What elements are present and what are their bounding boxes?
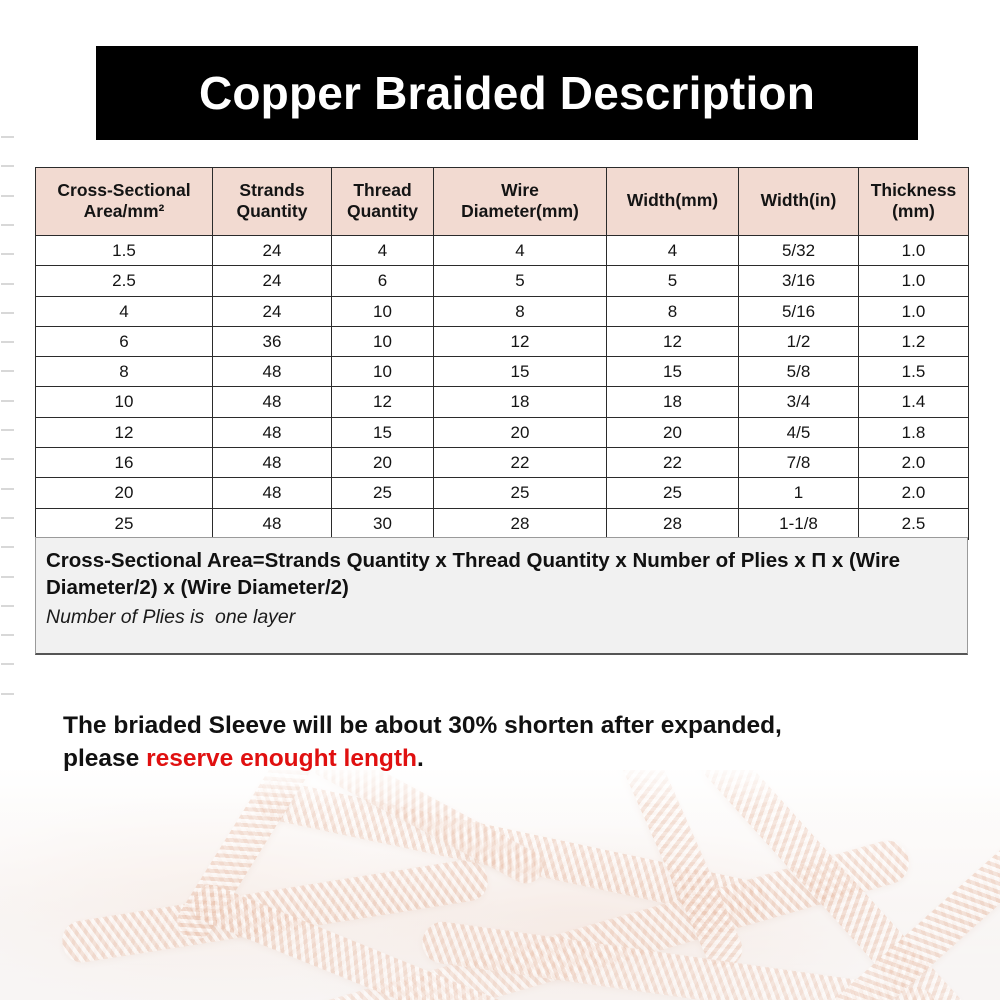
- table-cell: 48: [213, 478, 332, 508]
- table-cell: 48: [213, 387, 332, 417]
- table-cell: 10: [332, 326, 434, 356]
- table-cell: 2.5: [36, 266, 213, 296]
- table-cell: 10: [332, 296, 434, 326]
- gutter-tick: [1, 634, 14, 636]
- product-photo: [0, 770, 1000, 1000]
- table-cell: 5/8: [739, 357, 859, 387]
- table-cell: 36: [213, 326, 332, 356]
- column-header: Width(in): [739, 168, 859, 236]
- table-cell: 15: [434, 357, 607, 387]
- column-header: Width(mm): [607, 168, 739, 236]
- column-header: Thickness(mm): [859, 168, 969, 236]
- column-header: WireDiameter(mm): [434, 168, 607, 236]
- gutter-tick: [1, 136, 14, 138]
- table-cell: 24: [213, 236, 332, 266]
- gutter-tick: [1, 546, 14, 548]
- title-banner: Copper Braided Description: [96, 46, 918, 140]
- gutter-tick: [1, 429, 14, 431]
- table-cell: 1.4: [859, 387, 969, 417]
- table-cell: 18: [434, 387, 607, 417]
- table-row: 10481218183/41.4: [36, 387, 969, 417]
- table-cell: 28: [607, 508, 739, 539]
- table-cell: 8: [607, 296, 739, 326]
- gutter-tick: [1, 488, 14, 490]
- gutter-tick: [1, 370, 14, 372]
- column-header-line: Width(in): [742, 190, 855, 211]
- product-description-page: Copper Braided Description Cross-Section…: [0, 0, 1000, 1000]
- table-cell: 12: [434, 326, 607, 356]
- table-cell: 2.5: [859, 508, 969, 539]
- table-cell: 15: [332, 417, 434, 447]
- table-cell: 2.0: [859, 448, 969, 478]
- table-cell: 10: [332, 357, 434, 387]
- table-cell: 7/8: [739, 448, 859, 478]
- table-row: 42410885/161.0: [36, 296, 969, 326]
- table-cell: 8: [434, 296, 607, 326]
- column-header-line: Wire: [437, 180, 603, 201]
- table-cell: 3/16: [739, 266, 859, 296]
- table-cell: 2.0: [859, 478, 969, 508]
- table-cell: 1/2: [739, 326, 859, 356]
- table-cell: 25: [607, 478, 739, 508]
- table-cell: 10: [36, 387, 213, 417]
- table-row: 204825252512.0: [36, 478, 969, 508]
- table-cell: 12: [332, 387, 434, 417]
- table-cell: 25: [434, 478, 607, 508]
- table-cell: 18: [607, 387, 739, 417]
- table-cell: 20: [607, 417, 739, 447]
- table-cell: 1.0: [859, 266, 969, 296]
- column-header-line: (mm): [862, 201, 965, 222]
- warning-line-2-suffix: .: [417, 745, 424, 772]
- table-cell: 1.5: [859, 357, 969, 387]
- gutter-tick: [1, 517, 14, 519]
- table-cell: 3/4: [739, 387, 859, 417]
- table-cell: 6: [36, 326, 213, 356]
- table-cell: 5: [434, 266, 607, 296]
- gutter-tick: [1, 165, 14, 167]
- table-cell: 48: [213, 357, 332, 387]
- column-header-line: Area/mm²: [39, 201, 209, 222]
- warning-line-1: The briaded Sleeve will be about 30% sho…: [63, 712, 782, 739]
- table-cell: 1.5: [36, 236, 213, 266]
- table-row: 25483028281-1/82.5: [36, 508, 969, 539]
- column-header-line: Cross-Sectional: [39, 180, 209, 201]
- table-cell: 5/16: [739, 296, 859, 326]
- column-header-line: Thickness: [862, 180, 965, 201]
- gutter-tick: [1, 283, 14, 285]
- gutter-tick: [1, 253, 14, 255]
- table-body: 1.5244445/321.02.5246553/161.042410885/1…: [36, 236, 969, 539]
- table-cell: 24: [213, 296, 332, 326]
- table-cell: 1.8: [859, 417, 969, 447]
- table-row: 16482022227/82.0: [36, 448, 969, 478]
- gutter-tick: [1, 312, 14, 314]
- table-cell: 12: [36, 417, 213, 447]
- table-cell: 20: [36, 478, 213, 508]
- formula-equation: Cross-Sectional Area=Strands Quantity x …: [46, 547, 957, 602]
- plies-note: Number of Plies is one layer: [46, 605, 957, 630]
- table-cell: 20: [434, 417, 607, 447]
- table-header-row: Cross-SectionalArea/mm²StrandsQuantityTh…: [36, 168, 969, 236]
- warning-line-2-prefix: please: [63, 745, 146, 772]
- gutter-tick: [1, 605, 14, 607]
- table-cell: 1.2: [859, 326, 969, 356]
- table-cell: 48: [213, 448, 332, 478]
- gutter-tick: [1, 400, 14, 402]
- table-cell: 4: [607, 236, 739, 266]
- table-row: 2.5246553/161.0: [36, 266, 969, 296]
- table-cell: 28: [434, 508, 607, 539]
- table-cell: 4: [332, 236, 434, 266]
- table-cell: 48: [213, 508, 332, 539]
- table-cell: 8: [36, 357, 213, 387]
- table-cell: 1: [739, 478, 859, 508]
- column-header-line: Width(mm): [610, 190, 735, 211]
- table-cell: 25: [332, 478, 434, 508]
- gutter-tick: [1, 576, 14, 578]
- table-cell: 5: [607, 266, 739, 296]
- table-cell: 22: [434, 448, 607, 478]
- column-header-line: Quantity: [335, 201, 430, 222]
- table-cell: 4: [36, 296, 213, 326]
- shrinkage-warning: The briaded Sleeve will be about 30% sho…: [63, 710, 963, 776]
- table-cell: 1-1/8: [739, 508, 859, 539]
- table-cell: 6: [332, 266, 434, 296]
- table-cell: 12: [607, 326, 739, 356]
- column-header-line: Quantity: [216, 201, 328, 222]
- table-cell: 1.0: [859, 236, 969, 266]
- column-header-line: Strands: [216, 180, 328, 201]
- gutter-tick: [1, 224, 14, 226]
- spec-table-container: Cross-SectionalArea/mm²StrandsQuantityTh…: [35, 167, 968, 540]
- table-cell: 4: [434, 236, 607, 266]
- table-cell: 16: [36, 448, 213, 478]
- specification-table: Cross-SectionalArea/mm²StrandsQuantityTh…: [35, 167, 969, 540]
- gutter-tick: [1, 458, 14, 460]
- column-header: ThreadQuantity: [332, 168, 434, 236]
- table-header: Cross-SectionalArea/mm²StrandsQuantityTh…: [36, 168, 969, 236]
- formula-box: Cross-Sectional Area=Strands Quantity x …: [35, 537, 968, 655]
- table-row: 12481520204/51.8: [36, 417, 969, 447]
- column-header-line: Thread: [335, 180, 430, 201]
- row-gutter-marks: [0, 136, 16, 708]
- gutter-tick: [1, 341, 14, 343]
- gutter-tick: [1, 195, 14, 197]
- table-cell: 5/32: [739, 236, 859, 266]
- table-row: 8481015155/81.5: [36, 357, 969, 387]
- table-row: 1.5244445/321.0: [36, 236, 969, 266]
- gutter-tick: [1, 663, 14, 665]
- table-cell: 48: [213, 417, 332, 447]
- table-cell: 20: [332, 448, 434, 478]
- warning-highlight: reserve enought length: [146, 745, 417, 772]
- page-title: Copper Braided Description: [199, 70, 815, 116]
- table-cell: 25: [36, 508, 213, 539]
- table-cell: 15: [607, 357, 739, 387]
- table-cell: 1.0: [859, 296, 969, 326]
- table-cell: 22: [607, 448, 739, 478]
- column-header-line: Diameter(mm): [437, 201, 603, 222]
- table-cell: 4/5: [739, 417, 859, 447]
- table-cell: 24: [213, 266, 332, 296]
- column-header: Cross-SectionalArea/mm²: [36, 168, 213, 236]
- gutter-tick: [1, 693, 14, 695]
- table-cell: 30: [332, 508, 434, 539]
- table-row: 6361012121/21.2: [36, 326, 969, 356]
- column-header: StrandsQuantity: [213, 168, 332, 236]
